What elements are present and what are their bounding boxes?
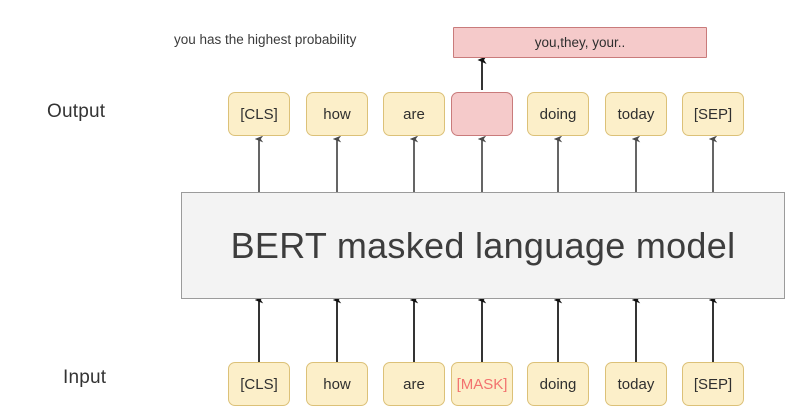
output_row-token-label-0: [CLS]	[240, 106, 278, 123]
input-arrows	[259, 300, 713, 362]
diagram-canvas: you has the highest probability you,they…	[0, 0, 793, 410]
output_row-token-label-1: how	[323, 106, 351, 123]
output_row-token-4: doing	[527, 92, 589, 136]
input_row-token-6: [SEP]	[682, 362, 744, 406]
input_row-token-label-1: how	[323, 376, 351, 393]
input_row-token-1: how	[306, 362, 368, 406]
output_row-token-6: [SEP]	[682, 92, 744, 136]
input_row-token-label-0: [CLS]	[240, 376, 278, 393]
output_row-token-label-2: are	[403, 106, 425, 123]
input_row-token-label-3: [MASK]	[457, 376, 508, 393]
input_row-token-label-6: [SEP]	[694, 376, 732, 393]
output-arrows	[259, 139, 713, 192]
prediction-banner-label: you,they, your..	[535, 35, 626, 50]
prediction-banner: you,they, your..	[453, 27, 707, 58]
input_row-token-3: [MASK]	[451, 362, 513, 406]
input_row-token-2: are	[383, 362, 445, 406]
output_row-token-label-4: doing	[540, 106, 577, 123]
input_row-token-label-4: doing	[540, 376, 577, 393]
prediction-caption: you has the highest probability	[174, 32, 356, 47]
output_row-token-5: today	[605, 92, 667, 136]
output_row-token-2: are	[383, 92, 445, 136]
bert-model-box: BERT masked language model	[181, 192, 785, 299]
input_row-token-label-2: are	[403, 376, 425, 393]
input-row-label: Input	[63, 367, 106, 389]
output-row-label: Output	[47, 101, 105, 123]
output_row-token-label-5: today	[618, 106, 655, 123]
input_row-token-4: doing	[527, 362, 589, 406]
input_row-token-label-5: today	[618, 376, 655, 393]
output_row-token-3	[451, 92, 513, 136]
bert-model-label: BERT masked language model	[231, 225, 736, 267]
output_row-token-label-6: [SEP]	[694, 106, 732, 123]
input_row-token-5: today	[605, 362, 667, 406]
input_row-token-0: [CLS]	[228, 362, 290, 406]
output_row-token-1: how	[306, 92, 368, 136]
output_row-token-0: [CLS]	[228, 92, 290, 136]
